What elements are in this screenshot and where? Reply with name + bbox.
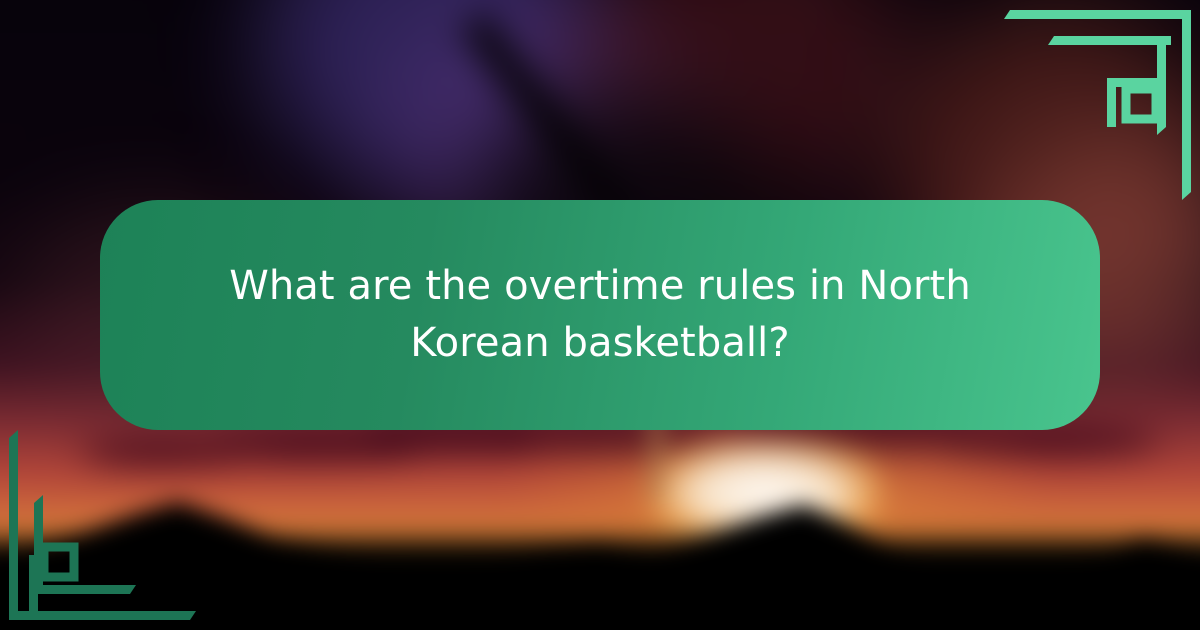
- poster-canvas: What are the overtime rules in North Kor…: [0, 0, 1200, 630]
- question-text: What are the overtime rules in North Kor…: [200, 258, 1000, 372]
- silhouette-baseline: [0, 540, 1200, 630]
- cloud-band-6: [940, 426, 1160, 456]
- question-card[interactable]: What are the overtime rules in North Kor…: [100, 200, 1100, 430]
